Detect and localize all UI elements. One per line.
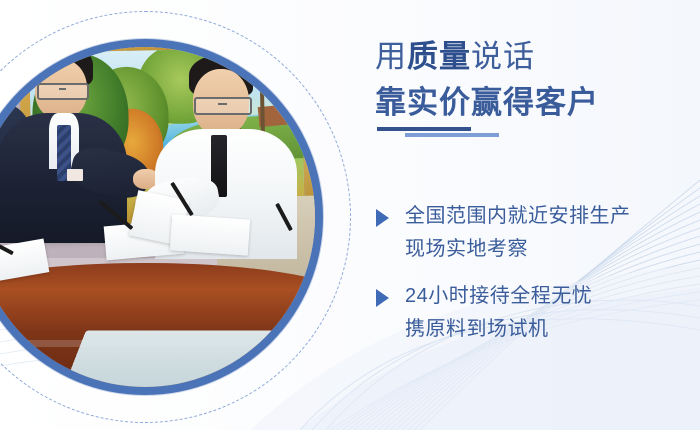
bullet-line: 24小时接待全程无忧 xyxy=(405,280,700,313)
headline-block: 用质量说话 靠实价赢得客户 xyxy=(375,34,700,126)
headline-line-1-pre: 用 xyxy=(375,39,407,74)
headline-line-1-emphasis: 质量 xyxy=(407,39,471,74)
play-arrow-icon xyxy=(376,209,389,227)
headline-line-2: 靠实价赢得客户 xyxy=(375,80,700,126)
promo-banner: 用质量说话 靠实价赢得客户 全国范围内就近安排生产 现场实地考察 24小时接待全… xyxy=(0,0,700,430)
bullet-item-1: 全国范围内就近安排生产 现场实地考察 xyxy=(375,200,700,266)
photo-image xyxy=(0,47,315,387)
photo-scene xyxy=(0,47,315,387)
headline-line-1-post: 说话 xyxy=(471,39,535,74)
bullet-line: 现场实地考察 xyxy=(405,233,700,266)
bullet-line: 携原料到场试机 xyxy=(405,313,700,346)
feature-bullet-list: 全国范围内就近安排生产 现场实地考察 24小时接待全程无忧 携原料到场试机 xyxy=(375,200,700,360)
eyeglasses-icon xyxy=(194,97,252,115)
eyeglasses-icon xyxy=(37,83,89,100)
headline-divider xyxy=(377,127,517,141)
bullet-item-2: 24小时接待全程无忧 携原料到场试机 xyxy=(375,280,700,346)
play-arrow-icon xyxy=(376,289,389,307)
bullet-item-2-lines: 24小时接待全程无忧 携原料到场试机 xyxy=(375,280,700,346)
bullet-item-1-lines: 全国范围内就近安排生产 现场实地考察 xyxy=(375,200,700,266)
headline-line-1: 用质量说话 xyxy=(375,34,700,80)
hero-photo-circle xyxy=(0,39,323,395)
name-badge xyxy=(67,169,83,181)
table-glass-top xyxy=(51,330,315,387)
document-paper xyxy=(170,214,250,255)
divider-light-bar xyxy=(405,133,499,137)
divider-dark-bar xyxy=(377,127,471,131)
content-column: 用质量说话 靠实价赢得客户 全国范围内就近安排生产 现场实地考察 24小时接待全… xyxy=(375,0,700,430)
bullet-line: 全国范围内就近安排生产 xyxy=(405,200,700,233)
